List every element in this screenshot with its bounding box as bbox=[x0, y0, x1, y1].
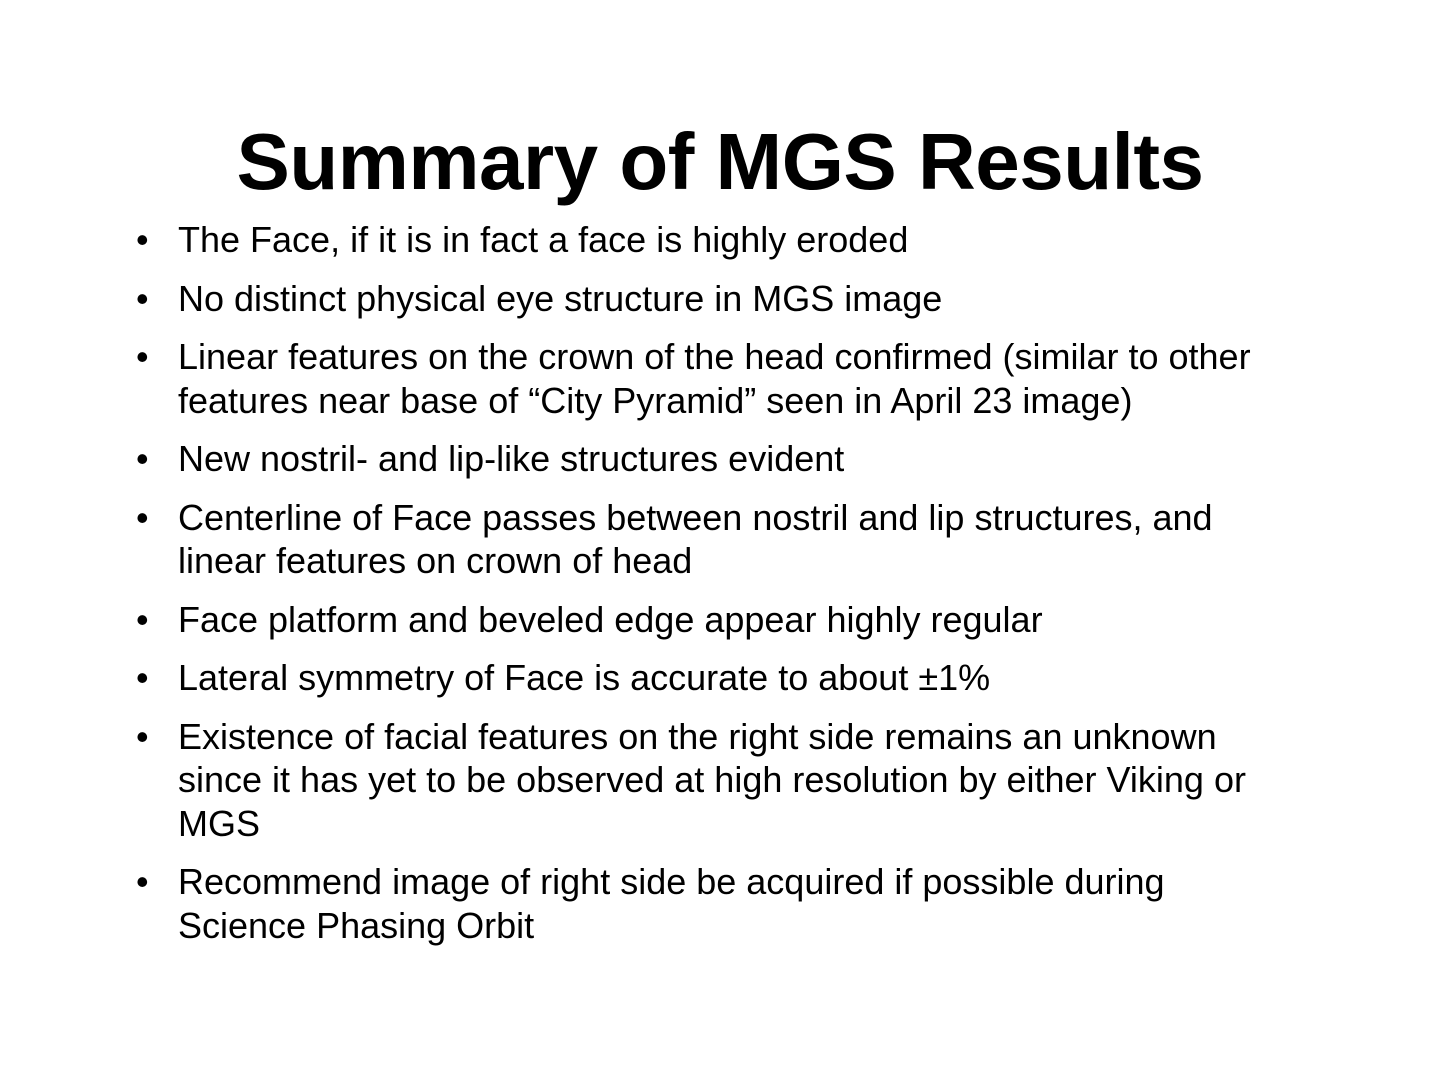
bullet-item: • Centerline of Face passes between nost… bbox=[132, 496, 1284, 583]
bullet-item: • Existence of facial features on the ri… bbox=[132, 715, 1284, 846]
bullet-dot-icon: • bbox=[136, 860, 158, 904]
bullet-dot-icon: • bbox=[136, 598, 158, 642]
bullet-item-text: Linear features on the crown of the head… bbox=[178, 335, 1284, 422]
bullet-dot-icon: • bbox=[136, 496, 158, 540]
bullet-item: • No distinct physical eye structure in … bbox=[132, 277, 1284, 321]
bullet-dot-icon: • bbox=[136, 277, 158, 321]
bullet-item-text: The Face, if it is in fact a face is hig… bbox=[178, 218, 1284, 262]
bullet-item-text: New nostril- and lip-like structures evi… bbox=[178, 437, 1284, 481]
bullet-dot-icon: • bbox=[136, 218, 158, 262]
bullet-dot-icon: • bbox=[136, 715, 158, 759]
bullet-dot-icon: • bbox=[136, 656, 158, 700]
bullet-item: • Linear features on the crown of the he… bbox=[132, 335, 1284, 422]
bullet-dot-icon: • bbox=[136, 335, 158, 379]
bullet-item: • Recommend image of right side be acqui… bbox=[132, 860, 1284, 947]
bullet-item-text: Existence of facial features on the righ… bbox=[178, 715, 1284, 846]
bullet-item-text: Lateral symmetry of Face is accurate to … bbox=[178, 656, 1284, 700]
slide-title: Summary of MGS Results bbox=[0, 122, 1440, 202]
bullet-item-text: Centerline of Face passes between nostri… bbox=[178, 496, 1284, 583]
bullet-item: • Lateral symmetry of Face is accurate t… bbox=[132, 656, 1284, 700]
bullet-item: • New nostril- and lip-like structures e… bbox=[132, 437, 1284, 481]
presentation-slide: Summary of MGS Results • The Face, if it… bbox=[0, 0, 1440, 1080]
bullet-item-text: No distinct physical eye structure in MG… bbox=[178, 277, 1284, 321]
bullet-item: • Face platform and beveled edge appear … bbox=[132, 598, 1284, 642]
bullet-item-text: Recommend image of right side be acquire… bbox=[178, 860, 1284, 947]
bullet-dot-icon: • bbox=[136, 437, 158, 481]
bullet-item-text: Face platform and beveled edge appear hi… bbox=[178, 598, 1284, 642]
bullet-list: • The Face, if it is in fact a face is h… bbox=[132, 218, 1284, 947]
bullet-item: • The Face, if it is in fact a face is h… bbox=[132, 218, 1284, 262]
